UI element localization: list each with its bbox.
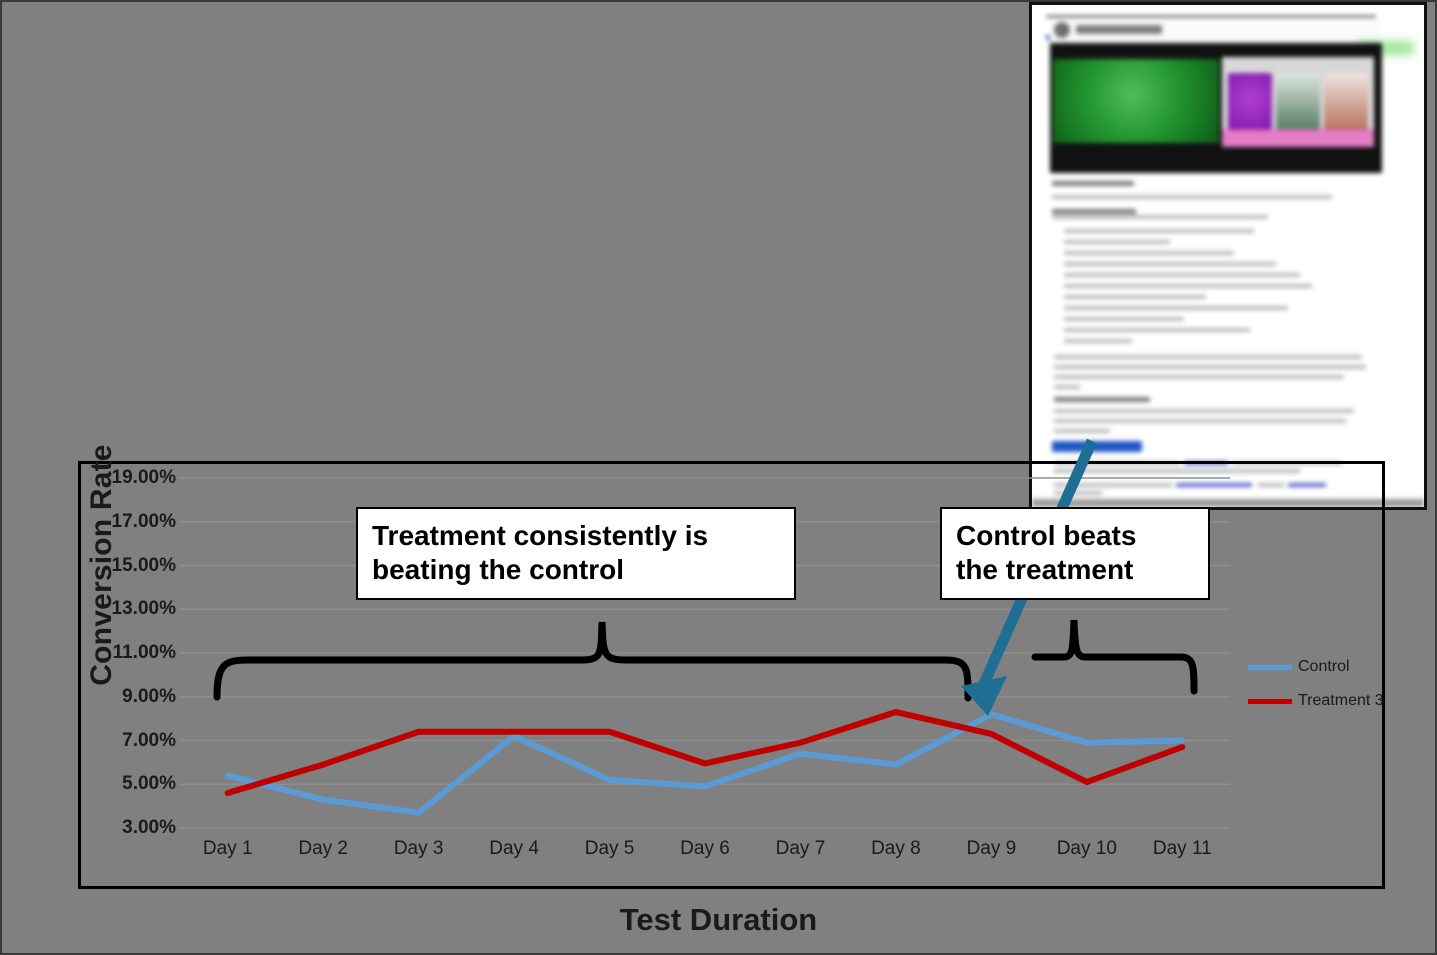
callout-text: Control beats the treatment [956,519,1136,585]
legend-swatch [1248,699,1292,704]
y-tick-label: 19.00% [88,467,176,489]
y-tick-label: 13.00% [88,598,176,620]
callout-line-1: Treatment consistently is [372,520,708,551]
y-tick-label: 15.00% [88,555,176,577]
x-tick-label: Day 3 [371,838,466,872]
y-tick-label: 17.00% [88,511,176,533]
x-tick-label: Day 6 [657,838,752,872]
x-tick-label: Day 4 [466,838,561,872]
x-tick-label: Day 10 [1039,838,1134,872]
legend-item-control[interactable]: Control [1248,650,1398,684]
y-tick-label: 7.00% [88,730,176,752]
inset-blurred-content [1032,5,1424,507]
legend-swatch [1248,665,1292,670]
x-axis-title: Test Duration [0,902,1437,938]
y-tick-label: 3.00% [88,817,176,839]
y-tick-label: 9.00% [88,686,176,708]
y-tick-label: 11.00% [88,642,176,664]
x-tick-label: Day 9 [944,838,1039,872]
callout-line-1: Control beats [956,520,1136,551]
x-axis-tick-labels: Day 1Day 2Day 3Day 4Day 5Day 6Day 7Day 8… [180,838,1230,872]
x-tick-label: Day 1 [180,838,275,872]
x-tick-label: Day 11 [1135,838,1230,872]
x-tick-label: Day 7 [753,838,848,872]
x-tick-label: Day 5 [562,838,657,872]
y-tick-label: 5.00% [88,773,176,795]
legend-item-treatment-3[interactable]: Treatment 3 [1248,684,1398,718]
legend-label: Treatment 3 [1298,692,1384,710]
y-axis-tick-labels: 19.00%17.00%15.00%13.00%11.00%9.00%7.00%… [88,461,176,889]
chart-legend: ControlTreatment 3 [1248,650,1398,718]
callout-treatment-beating-control[interactable]: Treatment consistently is beating the co… [356,507,796,600]
inset-email-screenshot[interactable] [1029,2,1427,510]
callout-control-beats-treatment[interactable]: Control beats the treatment [940,507,1210,600]
callout-text: Treatment consistently is beating the co… [372,519,708,585]
callout-line-2: the treatment [956,554,1133,585]
x-tick-label: Day 2 [275,838,370,872]
legend-label: Control [1298,658,1350,676]
series-line-treatment-3 [228,712,1183,793]
callout-line-2: beating the control [372,554,624,585]
x-tick-label: Day 8 [848,838,943,872]
